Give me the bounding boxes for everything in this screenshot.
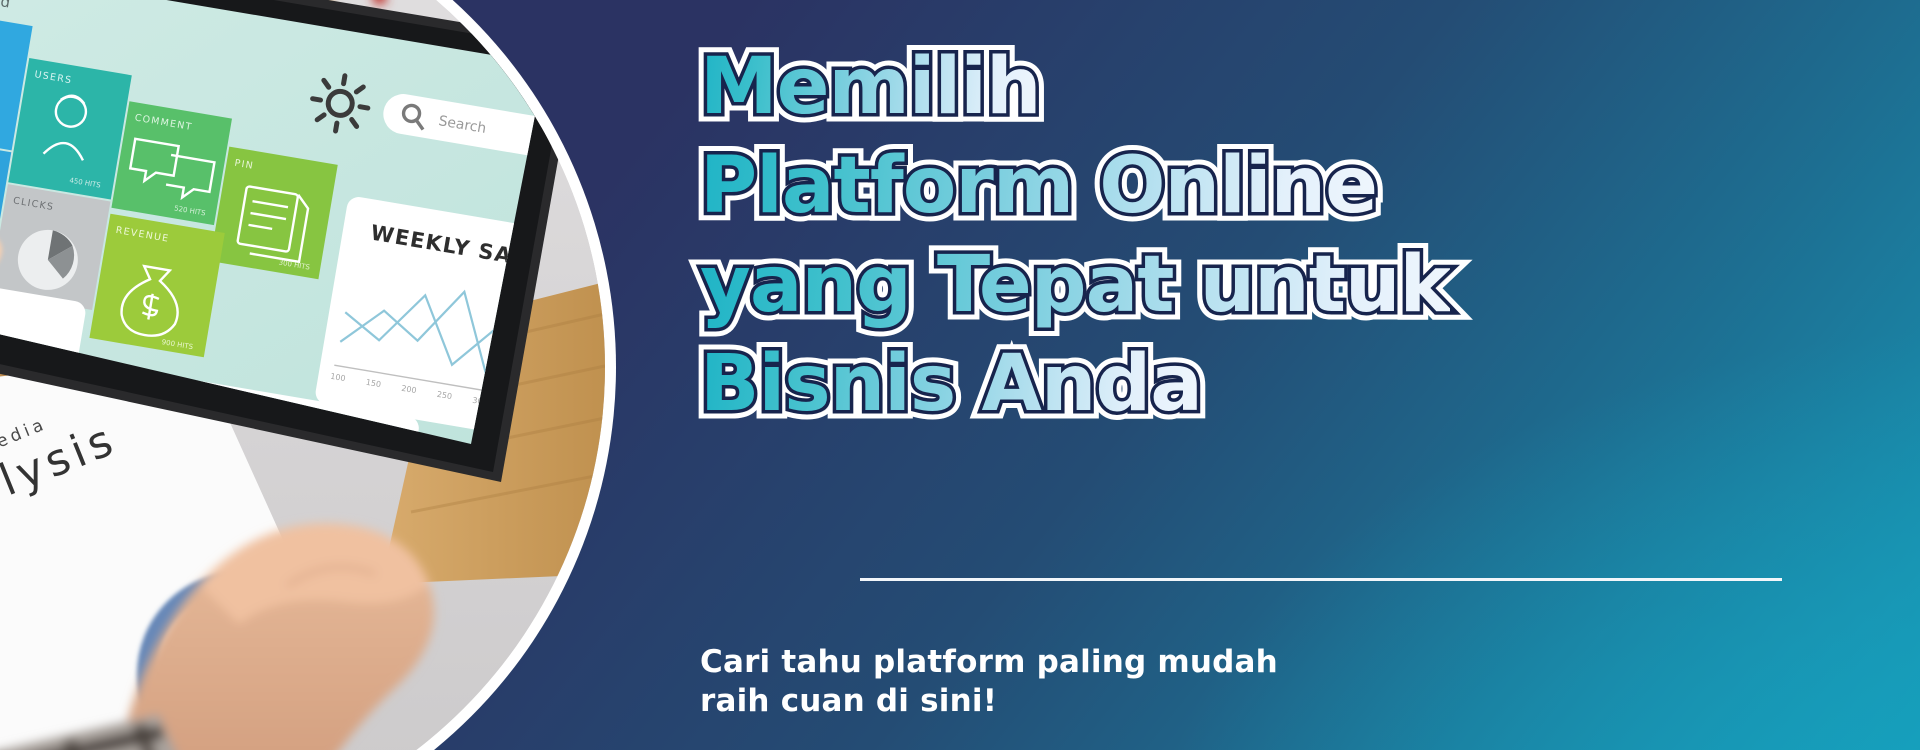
headline-line-2-fill: Platform Online <box>700 137 1377 236</box>
headline-line-1-fill: Memilih <box>700 38 1041 137</box>
headline-line-2: Platform Online Platform Online Platform… <box>700 137 1810 236</box>
banner-text-column: Memilih Memilih Memilih Platform Online … <box>700 0 1820 750</box>
tile-users: USERS 450 HITS <box>8 58 132 200</box>
headline-line-4-fill: Bisnis Anda <box>700 335 1202 434</box>
page-title: Memilih Memilih Memilih Platform Online … <box>700 38 1810 434</box>
headline-line-4: Bisnis Anda Bisnis Anda Bisnis Anda <box>700 335 1810 434</box>
hero-photo: Social Media Analysis 6k8k10k <box>0 0 605 750</box>
tile-comment: COMMENT 520 HITS <box>111 101 232 225</box>
tagline-line-2: raih cuan di sini! <box>700 682 1800 721</box>
headline-line-1: Memilih Memilih Memilih <box>700 38 1810 137</box>
tagline: Cari tahu platform paling mudah raih cua… <box>700 643 1800 721</box>
tile-revenue: REVENUE 900 HITS <box>89 214 224 358</box>
promo-banner: Social Media Analysis 6k8k10k <box>0 0 1920 750</box>
tile-pin: PIN 300 HITS <box>210 147 338 280</box>
hero-photo-illustration: Social Media Analysis 6k8k10k <box>0 0 605 750</box>
horizontal-divider <box>860 578 1782 581</box>
tile-clicks: CLICKS <box>0 184 110 310</box>
headline-line-3: yang Tepat untuk yang Tepat untuk yang T… <box>700 236 1810 335</box>
tagline-line-1: Cari tahu platform paling mudah <box>700 643 1800 682</box>
photo-circle-frame: Social Media Analysis 6k8k10k <box>0 0 616 750</box>
headline-line-3-fill: yang Tepat untuk <box>700 236 1450 335</box>
